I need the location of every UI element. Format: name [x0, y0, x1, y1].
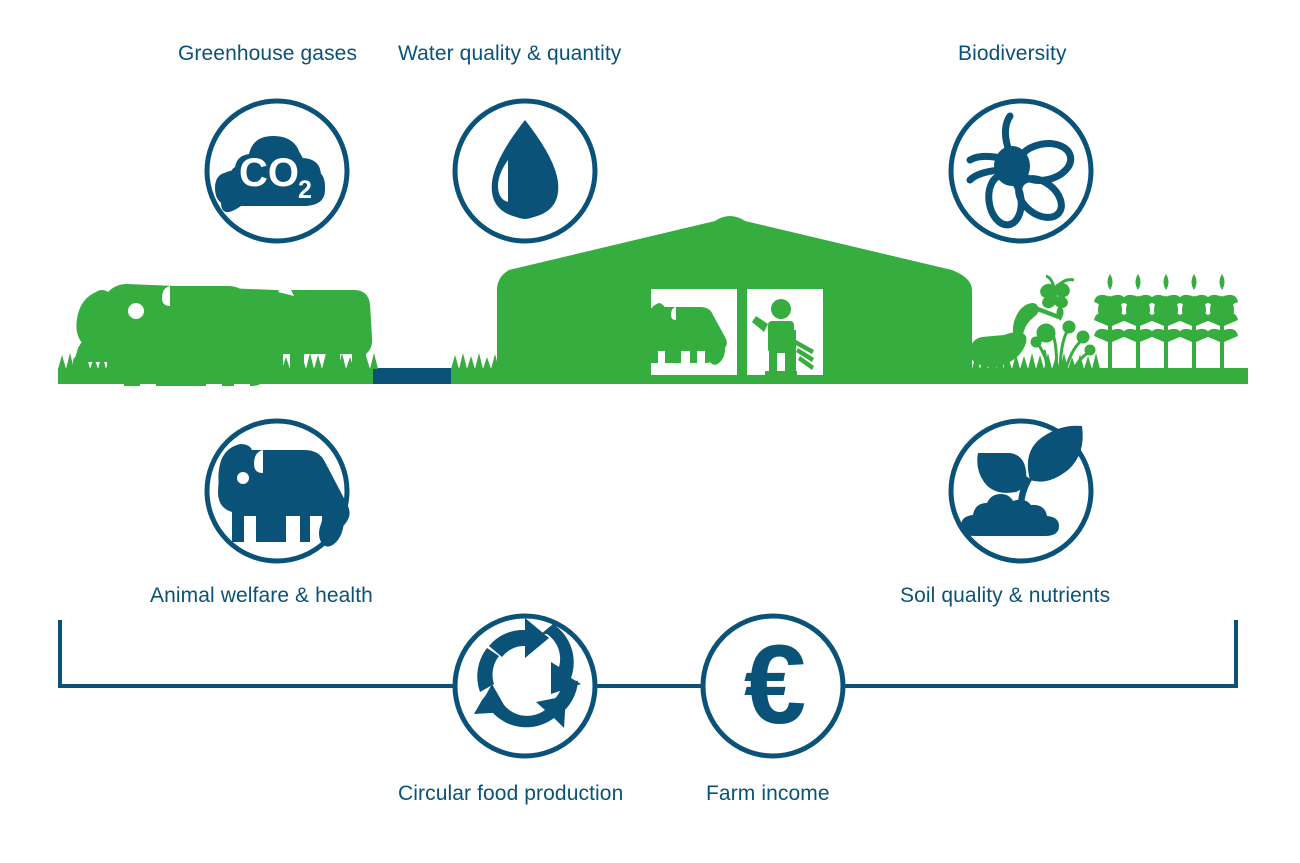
co2-icon-text: CO [239, 151, 299, 195]
euro-icon: € [744, 622, 806, 747]
bottom-bracket [60, 620, 1236, 686]
indicator-soil-quality[interactable] [951, 421, 1091, 561]
wheat-stalk [1206, 274, 1238, 376]
farm-scene [58, 216, 1248, 386]
infographic-svg: CO 2 [0, 0, 1300, 863]
indicator-animal-welfare[interactable] [207, 421, 350, 561]
co2-subscript-text: 2 [298, 176, 312, 204]
indicator-circular-food[interactable] [455, 616, 595, 756]
wheat-stalk [1150, 274, 1182, 376]
wheat-stalk [1094, 274, 1126, 376]
indicator-farm-income[interactable]: € [703, 616, 843, 756]
label-biodiversity: Biodiversity [958, 43, 1067, 64]
label-water-quality: Water quality & quantity [398, 43, 621, 64]
wheat-stalk [1178, 274, 1210, 376]
label-animal-welfare: Animal welfare & health [150, 585, 373, 606]
label-greenhouse-gases: Greenhouse gases [178, 43, 357, 64]
wheat-stalk [1122, 274, 1154, 376]
label-circular-food: Circular food production [398, 783, 623, 804]
barn [497, 216, 972, 384]
water-segment [373, 368, 451, 384]
indicator-greenhouse-gases[interactable]: CO 2 [207, 101, 347, 241]
butterfly-icon [1038, 276, 1074, 310]
indicator-biodiversity[interactable] [951, 101, 1091, 241]
indicator-water-quality[interactable] [455, 101, 595, 241]
label-farm-income: Farm income [706, 783, 830, 804]
infographic-canvas: Greenhouse gases Water quality & quantit… [0, 0, 1300, 863]
label-soil-quality: Soil quality & nutrients [900, 585, 1110, 606]
wheat-field [1094, 274, 1238, 376]
